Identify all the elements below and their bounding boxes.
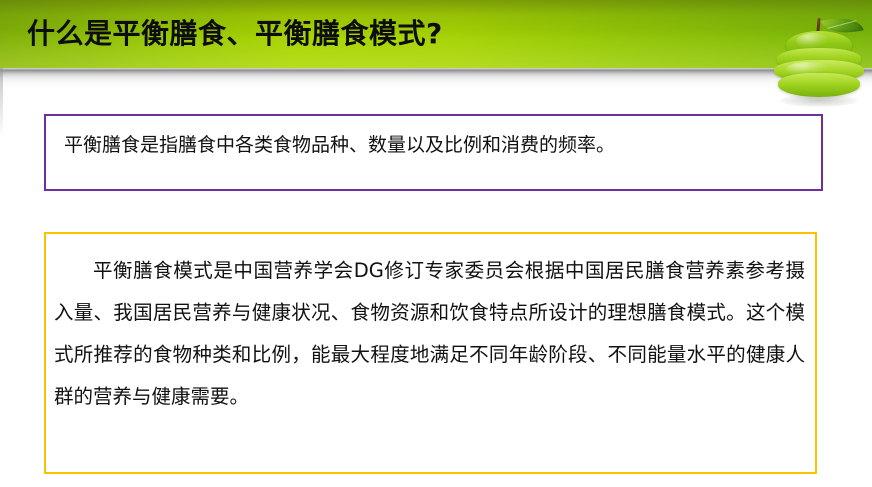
pattern-text: 平衡膳食模式是中国营养学会DG修订专家委员会根据中国居民膳食营养素参考摄入量、我… (54, 250, 805, 418)
apple-slice-4 (778, 73, 860, 97)
sliced-green-apple-icon (770, 2, 868, 110)
pattern-box: 平衡膳食模式是中国营养学会DG修订专家委员会根据中国居民膳食营养素参考摄入量、我… (44, 232, 817, 474)
definition-text: 平衡膳食是指膳食中各类食物品种、数量以及比例和消费的频率。 (64, 130, 805, 160)
header-bevel-shadow (0, 68, 872, 90)
header-divider-line (0, 68, 872, 70)
slide-root: 什么是平衡膳食、平衡膳食模式? 平衡膳食是指膳食中各类食物品种、数量以及比例和消… (0, 0, 872, 487)
left-edge-shadow (0, 68, 3, 138)
definition-box: 平衡膳食是指膳食中各类食物品种、数量以及比例和消费的频率。 (44, 114, 823, 191)
page-title: 什么是平衡膳食、平衡膳食模式? (27, 16, 443, 52)
